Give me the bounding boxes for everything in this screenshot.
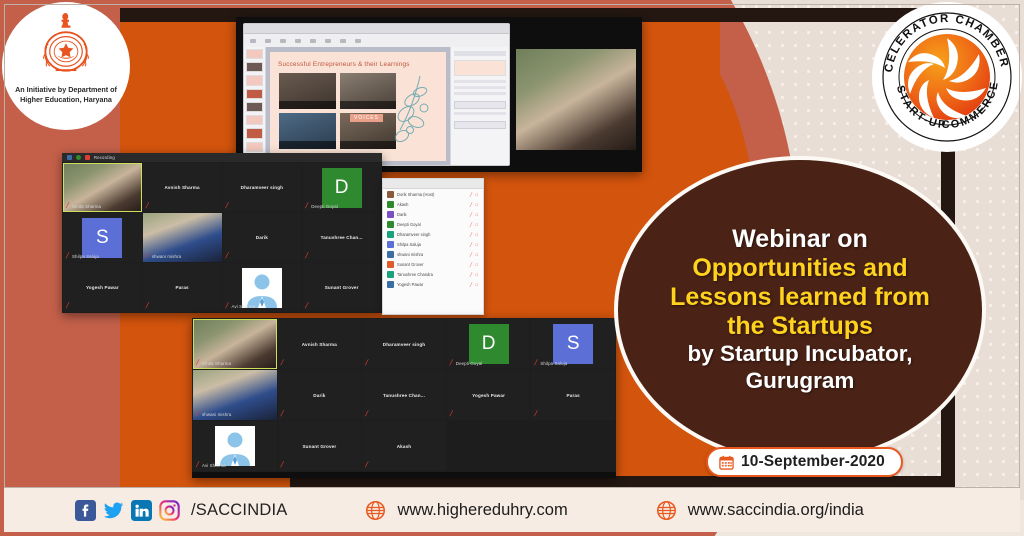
sidebar-button[interactable] <box>454 121 506 129</box>
globe-icon <box>656 500 677 521</box>
participant-status-icons: ╱ □ <box>470 282 479 287</box>
participant-name-label: Smita Sharma <box>202 361 231 366</box>
participant-tile[interactable]: Sunant Grover╱ <box>278 421 362 471</box>
muted-mic-icon: ╱ <box>196 412 200 417</box>
linkedin-icon[interactable] <box>131 500 152 521</box>
recording-label: Recording <box>94 155 115 160</box>
title-line-6: Gurugram <box>746 368 855 395</box>
screenshot-zoom-gallery-bottom: Smita Sharma╱Avnish Sharma╱Dharamveer si… <box>192 318 616 478</box>
participant-tile[interactable]: shwani mishra╱ <box>143 213 222 262</box>
haryana-emblem-icon <box>29 10 103 84</box>
title-line-5: by Startup Incubator, <box>687 341 912 368</box>
social-links[interactable]: /SACCINDIA <box>75 500 287 521</box>
slide-thumbnail[interactable] <box>246 75 263 85</box>
muted-mic-icon: ╱ <box>196 463 200 468</box>
caption-line-2: Higher Education, Haryana <box>15 95 117 105</box>
title-line-3: Lessons learned from <box>670 283 930 312</box>
participant-initial-avatar: S <box>553 324 593 364</box>
participant-name: Sunant Grover <box>397 262 467 267</box>
record-icon <box>85 155 90 160</box>
participant-tile[interactable]: Paras╱ <box>531 370 615 420</box>
participant-avatar <box>387 221 394 228</box>
speaker-video-tile <box>516 49 636 150</box>
title-line-2: Opportunities and <box>692 254 907 283</box>
participant-tile[interactable]: DDeepti Goyal╱ <box>447 319 531 369</box>
participant-name-label: Shilpa Saluja <box>540 361 567 366</box>
website-url-1: www.highereduhry.com <box>397 501 567 520</box>
haryana-logo: An Initiative by Department of Higher Ed… <box>2 2 130 130</box>
participant-row[interactable]: Yogesh Pawar╱ □ <box>383 279 483 289</box>
slide-thumbnail[interactable] <box>246 49 263 59</box>
muted-mic-icon: ╱ <box>281 412 285 417</box>
date-text: 10-September-2020 <box>741 453 885 471</box>
sidebar-row <box>454 80 506 83</box>
participant-row[interactable]: Shilpa Saluja╱ □ <box>383 239 483 249</box>
participant-tile[interactable]: Tanushree Chan...╱ <box>362 370 446 420</box>
participant-tile[interactable]: Sunant Grover╱ <box>302 263 381 312</box>
participant-status-icons: ╱ □ <box>470 222 479 227</box>
participant-avatar <box>387 211 394 218</box>
toolbar-icon <box>280 39 286 43</box>
participant-name-large: Avnish Sharma <box>302 342 337 347</box>
slide-thumbnail[interactable] <box>246 142 263 152</box>
format-sidebar[interactable] <box>450 47 509 165</box>
participant-name-large: Darik <box>313 393 325 398</box>
participant-status-icons: ╱ □ <box>470 202 479 207</box>
participant-avatar <box>387 281 394 288</box>
title-line-4: the Startups <box>727 312 873 341</box>
muted-mic-icon: ╱ <box>146 204 150 209</box>
participant-tile[interactable]: Tanushree Chan...╱ <box>302 213 381 262</box>
instagram-icon[interactable] <box>159 500 180 521</box>
participant-name-large: Paras <box>567 393 580 398</box>
toolbar-icon <box>340 39 346 43</box>
participant-avatar-icon <box>242 268 282 308</box>
participant-name-large: Yogesh Pawar <box>86 285 119 290</box>
participant-name-large: Dharamveer singh <box>241 185 283 190</box>
muted-mic-icon: ╱ <box>305 304 309 309</box>
muted-mic-icon: ╱ <box>305 204 309 209</box>
screenshot-zoom-gallery-middle: Recording Smita Sharma╱Avnish Sharma╱Dha… <box>62 153 382 313</box>
participant-name-label: shwani mishra <box>152 254 181 259</box>
participant-avatar-icon <box>215 426 255 466</box>
participant-status-icons: ╱ □ <box>470 232 479 237</box>
participant-row[interactable]: Dharamveer singh╱ □ <box>383 229 483 239</box>
participant-name: Dharamveer singh <box>397 232 467 237</box>
participant-name-large: Avnish Sharma <box>165 185 200 190</box>
participant-tile[interactable]: Darik╱ <box>278 370 362 420</box>
sidebar-row <box>454 112 506 115</box>
website-highereduhry[interactable]: www.highereduhry.com <box>365 500 567 521</box>
participant-initial-avatar: S <box>82 218 122 258</box>
sidebar-button[interactable] <box>454 101 506 109</box>
participant-tile[interactable]: Paras╱ <box>143 263 222 312</box>
participant-row[interactable]: Akash╱ □ <box>383 199 483 209</box>
participant-avatar <box>387 231 394 238</box>
participant-name: Darik <box>397 212 467 217</box>
sacc-logo-icon: ACCELERATOR CHAMBER OF START-UP COMMERCE <box>872 2 1022 152</box>
footer-bar: /SACCINDIA www.highereduhry.com www.sacc… <box>4 487 1020 532</box>
sidebar-row <box>454 92 506 95</box>
participant-name-label: Avi Sharma <box>202 463 226 468</box>
shield-icon <box>67 155 72 160</box>
participant-name-large: Sunant Grover <box>325 285 359 290</box>
slide-photo <box>340 73 397 109</box>
muted-mic-icon: ╱ <box>365 412 369 417</box>
slide-content: Successful Entrepreneurs & their Learnin… <box>270 52 446 161</box>
participant-name-large: Akash <box>397 444 412 449</box>
muted-mic-icon: ╱ <box>66 204 70 209</box>
participant-avatar <box>387 271 394 278</box>
participant-name-large: Tanushree Chan... <box>383 393 425 398</box>
participant-status-icons: ╱ □ <box>470 252 479 257</box>
participant-avatar <box>387 191 394 198</box>
webinar-poster: Successful Entrepreneurs & their Learnin… <box>0 0 1024 536</box>
presentation-app: Successful Entrepreneurs & their Learnin… <box>243 23 510 166</box>
participant-name-label: Shilpa Saluja <box>72 254 99 259</box>
muted-mic-icon: ╱ <box>281 463 285 468</box>
participant-row[interactable]: Sunant Grover╱ □ <box>383 259 483 269</box>
sidebar-row <box>454 86 506 89</box>
participant-tile[interactable]: Akash╱ <box>362 421 446 471</box>
participant-name: shwani mishra <box>397 252 467 257</box>
muted-mic-icon: ╱ <box>226 254 230 259</box>
participant-tile[interactable]: Dharamveer singh╱ <box>362 319 446 369</box>
website-saccindia[interactable]: www.saccindia.org/india <box>656 500 864 521</box>
participant-tile[interactable]: Dharamveer singh╱ <box>223 163 302 212</box>
slide-thumbnail-rail[interactable] <box>244 47 266 165</box>
participants-list[interactable]: Dorik Sharma (Host)╱ □Akash╱ □Darik╱ □De… <box>383 189 483 289</box>
muted-mic-icon: ╱ <box>196 361 200 366</box>
participant-name-label: Smita Sharma <box>72 204 101 209</box>
participant-status-icons: ╱ □ <box>470 262 479 267</box>
participant-name-large: Tanushree Chan... <box>321 235 363 240</box>
muted-mic-icon: ╱ <box>365 361 369 366</box>
slide-title: Successful Entrepreneurs & their Learnin… <box>270 52 446 68</box>
participant-name: Shilpa Saluja <box>397 242 467 247</box>
slide-photo <box>279 113 336 149</box>
participant-tile[interactable]: Avnish Sharma╱ <box>143 163 222 212</box>
participant-name: Yogesh Pawar <box>397 282 467 287</box>
participant-tile[interactable]: DDeepti Goyal╱ <box>302 163 381 212</box>
participant-name: Akash <box>397 202 467 207</box>
participant-status-icons: ╱ □ <box>470 272 479 277</box>
participant-tile[interactable]: shwani mishra╱ <box>193 370 277 420</box>
participant-tile[interactable]: SShilpa Saluja╱ <box>63 213 142 262</box>
presentation-toolbar <box>244 34 509 48</box>
participant-row[interactable]: shwani mishra╱ □ <box>383 249 483 259</box>
participants-panel[interactable]: Dorik Sharma (Host)╱ □Akash╱ □Darik╱ □De… <box>382 178 484 315</box>
title-circle: Webinar on Opportunities and Lessons lea… <box>618 160 982 460</box>
screenshot-presentation-window: Successful Entrepreneurs & their Learnin… <box>236 17 642 172</box>
participant-name-label: shwani mishra <box>202 412 231 417</box>
participant-status-icons: ╱ □ <box>470 212 479 217</box>
participant-initial-avatar: D <box>322 168 362 208</box>
participant-name: Deepti Goyal <box>397 222 467 227</box>
caption-line-1: An Initiative by Department of <box>15 85 117 95</box>
toolbar-icon <box>295 39 301 43</box>
participant-row[interactable]: Darik╱ □ <box>383 209 483 219</box>
participant-name-label: Deepti Goyal <box>456 361 483 366</box>
participants-panel-header <box>383 179 483 189</box>
toolbar-icon <box>325 39 331 43</box>
participant-row[interactable]: Deepti Goyal╱ □ <box>383 219 483 229</box>
network-icon <box>76 155 81 160</box>
muted-mic-icon: ╱ <box>146 304 150 309</box>
muted-mic-icon: ╱ <box>146 254 150 259</box>
layout-preview <box>454 60 506 76</box>
participant-avatar <box>387 261 394 268</box>
participant-tile[interactable]: Avnish Sharma╱ <box>278 319 362 369</box>
social-handle: /SACCINDIA <box>191 501 287 520</box>
muted-mic-icon: ╱ <box>365 463 369 468</box>
participant-avatar <box>387 241 394 248</box>
slide-canvas: Successful Entrepreneurs & their Learnin… <box>266 47 450 165</box>
participant-tile[interactable]: Smita Sharma╱ <box>63 163 142 212</box>
participant-name-large: Yogesh Pawar <box>472 393 505 398</box>
participant-name-large: Dharamveer singh <box>383 342 425 347</box>
date-badge: 10-September-2020 <box>706 447 903 477</box>
facebook-icon[interactable] <box>75 500 96 521</box>
website-url-2: www.saccindia.org/india <box>688 501 864 520</box>
participant-tile[interactable]: Smita Sharma╱ <box>193 319 277 369</box>
floral-decoration <box>390 74 442 154</box>
slide-thumbnail[interactable] <box>246 62 263 72</box>
participant-tile[interactable]: Yogesh Pawar╱ <box>63 263 142 312</box>
slide-thumbnail[interactable] <box>246 128 263 138</box>
participant-avatar <box>387 251 394 258</box>
participant-tile[interactable]: Darik╱ <box>223 213 302 262</box>
participant-row[interactable]: Dorik Sharma (Host)╱ □ <box>383 189 483 199</box>
toolbar-icon <box>310 39 316 43</box>
muted-mic-icon: ╱ <box>450 412 454 417</box>
participant-status-icons: ╱ □ <box>470 242 479 247</box>
muted-mic-icon: ╱ <box>66 254 70 259</box>
zoom-status-bar: Recording <box>62 153 382 162</box>
toolbar-icon <box>355 39 361 43</box>
sacc-logo: ACCELERATOR CHAMBER OF START-UP COMMERCE <box>872 2 1022 152</box>
muted-mic-icon: ╱ <box>450 361 454 366</box>
participant-tile[interactable]: Avi Sharma╱ <box>223 263 302 312</box>
participant-name-label: Avi Sharma <box>232 304 256 309</box>
muted-mic-icon: ╱ <box>66 304 70 309</box>
muted-mic-icon: ╱ <box>226 204 230 209</box>
participant-tile[interactable]: SShilpa Saluja╱ <box>531 319 615 369</box>
participant-name: Tanushree Chandra <box>397 272 467 277</box>
haryana-caption: An Initiative by Department of Higher Ed… <box>7 85 125 106</box>
participant-initial-avatar: D <box>469 324 509 364</box>
slide-thumbnail[interactable] <box>246 89 263 99</box>
participant-name-large: Sunant Grover <box>302 444 336 449</box>
participant-row[interactable]: Tanushree Chandra╱ □ <box>383 269 483 279</box>
participant-tile[interactable]: Yogesh Pawar╱ <box>447 370 531 420</box>
globe-icon <box>365 500 386 521</box>
muted-mic-icon: ╱ <box>534 361 538 366</box>
slide-thumbnail[interactable] <box>246 115 263 125</box>
participant-status-icons: ╱ □ <box>470 192 479 197</box>
participant-grid: Smita Sharma╱Avnish Sharma╱Dharamveer si… <box>192 318 616 472</box>
toolbar-icon <box>250 39 256 43</box>
muted-mic-icon: ╱ <box>305 254 309 259</box>
sidebar-header <box>454 51 506 56</box>
twitter-icon[interactable] <box>103 500 124 521</box>
presentation-titlebar <box>244 24 509 34</box>
participant-name-label: Deepti Goyal <box>311 204 338 209</box>
participant-avatar <box>387 201 394 208</box>
toolbar-icon <box>265 39 271 43</box>
participant-name: Dorik Sharma (Host) <box>397 192 467 197</box>
participant-grid: Smita Sharma╱Avnish Sharma╱Dharamveer si… <box>62 162 382 313</box>
presentation-body: Successful Entrepreneurs & their Learnin… <box>244 47 509 165</box>
muted-mic-icon: ╱ <box>534 412 538 417</box>
calendar-icon <box>719 455 734 470</box>
participant-name-large: Paras <box>175 285 188 290</box>
participant-name-large: Darik <box>256 235 268 240</box>
muted-mic-icon: ╱ <box>226 304 230 309</box>
title-line-1: Webinar on <box>732 225 868 254</box>
slide-tag: VOICES <box>350 114 383 122</box>
slide-photo <box>279 73 336 109</box>
participant-tile[interactable]: Avi Sharma╱ <box>193 421 277 471</box>
slide-thumbnail[interactable] <box>246 102 263 112</box>
muted-mic-icon: ╱ <box>281 361 285 366</box>
